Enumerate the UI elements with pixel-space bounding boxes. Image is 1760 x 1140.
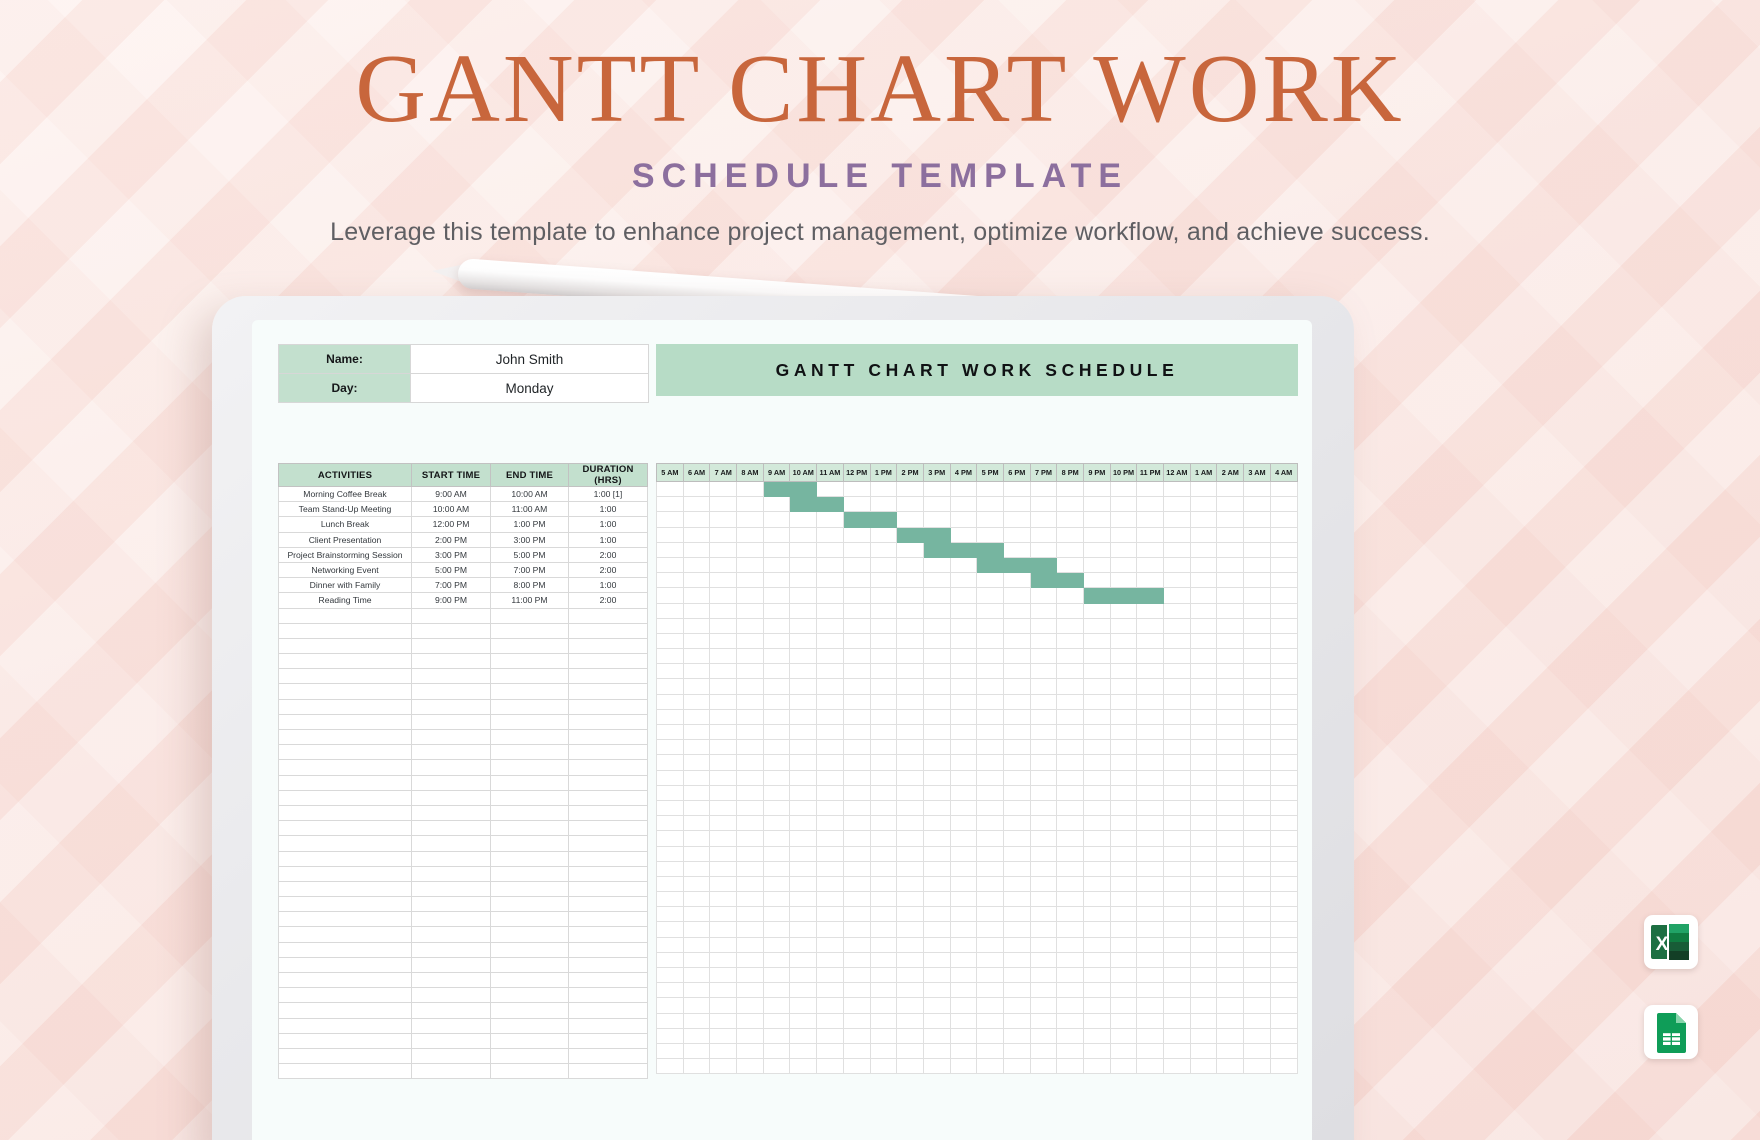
gantt-empty-cell[interactable]	[870, 709, 897, 724]
gantt-empty-cell[interactable]	[843, 694, 870, 709]
gantt-empty-cell[interactable]	[897, 968, 924, 983]
gantt-empty-cell[interactable]	[1164, 1043, 1191, 1058]
gantt-empty-cell[interactable]	[1244, 922, 1271, 937]
gantt-empty-cell[interactable]	[977, 1043, 1004, 1058]
gantt-bar-cell[interactable]	[843, 512, 870, 527]
cell-start-time-empty[interactable]	[412, 897, 491, 912]
gantt-empty-cell[interactable]	[1084, 694, 1111, 709]
cell-start-time-empty[interactable]	[412, 851, 491, 866]
gantt-empty-cell[interactable]	[1244, 740, 1271, 755]
gantt-empty-cell[interactable]	[1084, 952, 1111, 967]
gantt-empty-cell[interactable]	[1270, 497, 1297, 512]
gantt-empty-cell[interactable]	[1003, 497, 1030, 512]
gantt-empty-cell[interactable]	[1057, 482, 1084, 497]
gantt-empty-cell[interactable]	[1057, 1059, 1084, 1074]
gantt-empty-cell[interactable]	[923, 968, 950, 983]
gantt-empty-cell[interactable]	[870, 800, 897, 815]
cell-start-time-empty[interactable]	[412, 669, 491, 684]
gantt-empty-cell[interactable]	[843, 922, 870, 937]
gantt-empty-cell[interactable]	[1164, 770, 1191, 785]
cell-start-time-empty[interactable]	[412, 927, 491, 942]
gantt-empty-cell[interactable]	[1164, 816, 1191, 831]
gantt-empty-cell[interactable]	[763, 952, 790, 967]
gantt-empty-cell[interactable]	[923, 573, 950, 588]
gantt-empty-cell[interactable]	[1003, 770, 1030, 785]
cell-end-time-empty[interactable]	[491, 699, 569, 714]
cell-end-time-empty[interactable]	[491, 684, 569, 699]
gantt-empty-cell[interactable]	[977, 846, 1004, 861]
cell-activity-empty[interactable]	[279, 745, 412, 760]
gantt-empty-cell[interactable]	[657, 527, 684, 542]
gantt-empty-cell[interactable]	[710, 618, 737, 633]
gantt-empty-cell[interactable]	[1057, 952, 1084, 967]
gantt-empty-cell[interactable]	[1164, 983, 1191, 998]
gantt-empty-cell[interactable]	[1137, 527, 1164, 542]
gantt-empty-cell[interactable]	[1190, 1043, 1217, 1058]
gantt-empty-cell[interactable]	[843, 1043, 870, 1058]
gantt-empty-cell[interactable]	[1110, 800, 1137, 815]
gantt-empty-cell[interactable]	[1137, 861, 1164, 876]
gantt-empty-cell[interactable]	[1057, 618, 1084, 633]
cell-start-time-empty[interactable]	[412, 730, 491, 745]
gantt-empty-cell[interactable]	[737, 694, 764, 709]
gantt-empty-cell[interactable]	[1030, 542, 1057, 557]
gantt-bar-cell[interactable]	[790, 482, 817, 497]
gantt-empty-cell[interactable]	[1110, 725, 1137, 740]
cell-end-time-empty[interactable]	[491, 730, 569, 745]
gantt-empty-cell[interactable]	[1270, 800, 1297, 815]
excel-export-icon[interactable]: X	[1644, 915, 1698, 969]
gantt-empty-cell[interactable]	[737, 1059, 764, 1074]
cell-activity-empty[interactable]	[279, 684, 412, 699]
gantt-empty-cell[interactable]	[923, 800, 950, 815]
gantt-empty-cell[interactable]	[683, 542, 710, 557]
gantt-empty-cell[interactable]	[870, 1028, 897, 1043]
gantt-empty-cell[interactable]	[1003, 709, 1030, 724]
gantt-empty-cell[interactable]	[1057, 725, 1084, 740]
gantt-empty-cell[interactable]	[843, 861, 870, 876]
gantt-empty-cell[interactable]	[683, 694, 710, 709]
gantt-empty-cell[interactable]	[1137, 679, 1164, 694]
gantt-empty-cell[interactable]	[1190, 755, 1217, 770]
gantt-empty-cell[interactable]	[817, 800, 844, 815]
gantt-empty-cell[interactable]	[763, 785, 790, 800]
cell-duration-empty[interactable]	[569, 714, 648, 729]
gantt-empty-cell[interactable]	[817, 527, 844, 542]
gantt-empty-cell[interactable]	[843, 952, 870, 967]
gantt-empty-cell[interactable]	[843, 831, 870, 846]
cell-end-time-empty[interactable]	[491, 866, 569, 881]
gantt-empty-cell[interactable]	[897, 846, 924, 861]
gantt-empty-cell[interactable]	[657, 1059, 684, 1074]
gantt-empty-cell[interactable]	[897, 557, 924, 572]
gantt-empty-cell[interactable]	[1244, 1013, 1271, 1028]
gantt-empty-cell[interactable]	[1137, 968, 1164, 983]
gantt-empty-cell[interactable]	[1244, 497, 1271, 512]
gantt-empty-cell[interactable]	[1030, 907, 1057, 922]
cell-end-time[interactable]: 3:00 PM	[491, 532, 569, 547]
gantt-empty-cell[interactable]	[1030, 831, 1057, 846]
gantt-empty-cell[interactable]	[1084, 497, 1111, 512]
gantt-empty-cell[interactable]	[1270, 785, 1297, 800]
gantt-bar-cell[interactable]	[870, 512, 897, 527]
gantt-empty-cell[interactable]	[1217, 1013, 1244, 1028]
gantt-empty-cell[interactable]	[1110, 633, 1137, 648]
cell-start-time-empty[interactable]	[412, 821, 491, 836]
gantt-empty-cell[interactable]	[1057, 785, 1084, 800]
gantt-empty-cell[interactable]	[1217, 998, 1244, 1013]
gantt-empty-cell[interactable]	[1244, 892, 1271, 907]
gantt-empty-cell[interactable]	[790, 573, 817, 588]
gantt-empty-cell[interactable]	[1244, 694, 1271, 709]
gantt-empty-cell[interactable]	[1137, 892, 1164, 907]
gantt-empty-cell[interactable]	[1164, 725, 1191, 740]
gantt-empty-cell[interactable]	[1217, 603, 1244, 618]
gantt-empty-cell[interactable]	[950, 725, 977, 740]
gantt-empty-cell[interactable]	[1217, 573, 1244, 588]
gantt-empty-cell[interactable]	[657, 588, 684, 603]
gantt-empty-cell[interactable]	[763, 679, 790, 694]
cell-duration-empty[interactable]	[569, 957, 648, 972]
gantt-empty-cell[interactable]	[1030, 1043, 1057, 1058]
gantt-empty-cell[interactable]	[1084, 664, 1111, 679]
gantt-empty-cell[interactable]	[1190, 482, 1217, 497]
gantt-bar-cell[interactable]	[1030, 573, 1057, 588]
gantt-empty-cell[interactable]	[1110, 861, 1137, 876]
cell-duration-empty[interactable]	[569, 866, 648, 881]
cell-end-time-empty[interactable]	[491, 790, 569, 805]
gantt-empty-cell[interactable]	[1217, 861, 1244, 876]
gantt-empty-cell[interactable]	[897, 679, 924, 694]
gantt-empty-cell[interactable]	[1217, 740, 1244, 755]
gantt-empty-cell[interactable]	[950, 907, 977, 922]
cell-end-time-empty[interactable]	[491, 942, 569, 957]
gantt-empty-cell[interactable]	[790, 1059, 817, 1074]
gantt-empty-cell[interactable]	[1057, 816, 1084, 831]
gantt-empty-cell[interactable]	[843, 968, 870, 983]
cell-start-time-empty[interactable]	[412, 623, 491, 638]
gantt-empty-cell[interactable]	[1003, 800, 1030, 815]
gantt-empty-cell[interactable]	[737, 770, 764, 785]
cell-duration-empty[interactable]	[569, 821, 648, 836]
gantt-empty-cell[interactable]	[1030, 1059, 1057, 1074]
gantt-empty-cell[interactable]	[657, 1043, 684, 1058]
cell-end-time-empty[interactable]	[491, 1064, 569, 1079]
gantt-empty-cell[interactable]	[1270, 633, 1297, 648]
gantt-empty-cell[interactable]	[1030, 861, 1057, 876]
gantt-empty-cell[interactable]	[683, 816, 710, 831]
cell-start-time-empty[interactable]	[412, 1018, 491, 1033]
cell-activity-empty[interactable]	[279, 881, 412, 896]
cell-activity-empty[interactable]	[279, 988, 412, 1003]
gantt-empty-cell[interactable]	[843, 998, 870, 1013]
gantt-empty-cell[interactable]	[1057, 907, 1084, 922]
gantt-empty-cell[interactable]	[1110, 740, 1137, 755]
gantt-empty-cell[interactable]	[1190, 922, 1217, 937]
gantt-empty-cell[interactable]	[1110, 876, 1137, 891]
cell-activity-empty[interactable]	[279, 957, 412, 972]
gantt-empty-cell[interactable]	[1084, 482, 1111, 497]
cell-start-time[interactable]: 3:00 PM	[412, 547, 491, 562]
gantt-empty-cell[interactable]	[1003, 725, 1030, 740]
gantt-empty-cell[interactable]	[950, 588, 977, 603]
gantt-empty-cell[interactable]	[1003, 633, 1030, 648]
gantt-empty-cell[interactable]	[817, 983, 844, 998]
gantt-empty-cell[interactable]	[1084, 998, 1111, 1013]
gantt-empty-cell[interactable]	[683, 968, 710, 983]
cell-start-time-empty[interactable]	[412, 790, 491, 805]
cell-duration[interactable]: 1:00 [1]	[569, 487, 648, 502]
gantt-empty-cell[interactable]	[870, 1059, 897, 1074]
gantt-empty-cell[interactable]	[1137, 816, 1164, 831]
gantt-empty-cell[interactable]	[1057, 861, 1084, 876]
gantt-empty-cell[interactable]	[843, 649, 870, 664]
gantt-empty-cell[interactable]	[683, 588, 710, 603]
cell-end-time-empty[interactable]	[491, 1048, 569, 1063]
gantt-empty-cell[interactable]	[790, 603, 817, 618]
gantt-empty-cell[interactable]	[1244, 876, 1271, 891]
gantt-empty-cell[interactable]	[923, 694, 950, 709]
gantt-empty-cell[interactable]	[790, 846, 817, 861]
gantt-empty-cell[interactable]	[977, 922, 1004, 937]
gantt-empty-cell[interactable]	[1217, 770, 1244, 785]
gantt-empty-cell[interactable]	[1084, 785, 1111, 800]
gantt-empty-cell[interactable]	[1003, 649, 1030, 664]
gantt-empty-cell[interactable]	[1030, 1028, 1057, 1043]
gantt-empty-cell[interactable]	[843, 1059, 870, 1074]
gantt-empty-cell[interactable]	[1137, 876, 1164, 891]
gantt-empty-cell[interactable]	[923, 679, 950, 694]
gantt-empty-cell[interactable]	[1110, 573, 1137, 588]
cell-activity-empty[interactable]	[279, 775, 412, 790]
cell-end-time-empty[interactable]	[491, 623, 569, 638]
gantt-empty-cell[interactable]	[1003, 1043, 1030, 1058]
gantt-empty-cell[interactable]	[843, 633, 870, 648]
gantt-empty-cell[interactable]	[897, 1059, 924, 1074]
gantt-empty-cell[interactable]	[763, 557, 790, 572]
gantt-empty-cell[interactable]	[817, 649, 844, 664]
gantt-empty-cell[interactable]	[817, 937, 844, 952]
gantt-empty-cell[interactable]	[1057, 664, 1084, 679]
gantt-empty-cell[interactable]	[1244, 785, 1271, 800]
gantt-empty-cell[interactable]	[1030, 512, 1057, 527]
gantt-empty-cell[interactable]	[1217, 482, 1244, 497]
gantt-empty-cell[interactable]	[1003, 618, 1030, 633]
gantt-empty-cell[interactable]	[1030, 816, 1057, 831]
gantt-empty-cell[interactable]	[1137, 800, 1164, 815]
gantt-empty-cell[interactable]	[657, 755, 684, 770]
gantt-empty-cell[interactable]	[897, 1028, 924, 1043]
gantt-empty-cell[interactable]	[1164, 1013, 1191, 1028]
gantt-empty-cell[interactable]	[1003, 1028, 1030, 1043]
gantt-empty-cell[interactable]	[923, 512, 950, 527]
gantt-empty-cell[interactable]	[1270, 952, 1297, 967]
gantt-empty-cell[interactable]	[870, 649, 897, 664]
gantt-empty-cell[interactable]	[1270, 649, 1297, 664]
gantt-empty-cell[interactable]	[737, 679, 764, 694]
gantt-empty-cell[interactable]	[657, 907, 684, 922]
gantt-empty-cell[interactable]	[657, 740, 684, 755]
gantt-empty-cell[interactable]	[1190, 527, 1217, 542]
gantt-empty-cell[interactable]	[1003, 527, 1030, 542]
gantt-empty-cell[interactable]	[1003, 876, 1030, 891]
gantt-empty-cell[interactable]	[1110, 937, 1137, 952]
gantt-empty-cell[interactable]	[1057, 876, 1084, 891]
cell-activity-empty[interactable]	[279, 897, 412, 912]
gantt-empty-cell[interactable]	[1217, 816, 1244, 831]
gantt-empty-cell[interactable]	[977, 664, 1004, 679]
gantt-bar-cell[interactable]	[763, 482, 790, 497]
gantt-empty-cell[interactable]	[1190, 679, 1217, 694]
gantt-empty-cell[interactable]	[843, 482, 870, 497]
gantt-empty-cell[interactable]	[1217, 542, 1244, 557]
gantt-empty-cell[interactable]	[1030, 725, 1057, 740]
gantt-empty-cell[interactable]	[870, 755, 897, 770]
gantt-empty-cell[interactable]	[1190, 542, 1217, 557]
gantt-empty-cell[interactable]	[977, 952, 1004, 967]
gantt-empty-cell[interactable]	[977, 573, 1004, 588]
gantt-empty-cell[interactable]	[1030, 740, 1057, 755]
gantt-empty-cell[interactable]	[737, 573, 764, 588]
gantt-bar-cell[interactable]	[1057, 573, 1084, 588]
cell-duration-empty[interactable]	[569, 912, 648, 927]
gantt-empty-cell[interactable]	[657, 482, 684, 497]
gantt-empty-cell[interactable]	[763, 709, 790, 724]
cell-start-time[interactable]: 9:00 PM	[412, 593, 491, 608]
gantt-empty-cell[interactable]	[1110, 512, 1137, 527]
gantt-empty-cell[interactable]	[1217, 512, 1244, 527]
gantt-empty-cell[interactable]	[950, 1028, 977, 1043]
gantt-empty-cell[interactable]	[790, 785, 817, 800]
gantt-empty-cell[interactable]	[1190, 1013, 1217, 1028]
gantt-empty-cell[interactable]	[790, 770, 817, 785]
gantt-bar-cell[interactable]	[897, 527, 924, 542]
gantt-empty-cell[interactable]	[1270, 922, 1297, 937]
gantt-empty-cell[interactable]	[763, 998, 790, 1013]
cell-start-time-empty[interactable]	[412, 973, 491, 988]
gantt-empty-cell[interactable]	[683, 618, 710, 633]
gantt-empty-cell[interactable]	[843, 542, 870, 557]
cell-start-time-empty[interactable]	[412, 866, 491, 881]
cell-end-time-empty[interactable]	[491, 638, 569, 653]
cell-start-time-empty[interactable]	[412, 714, 491, 729]
gantt-empty-cell[interactable]	[657, 831, 684, 846]
gantt-empty-cell[interactable]	[1057, 740, 1084, 755]
gantt-bar-cell[interactable]	[1003, 557, 1030, 572]
gantt-empty-cell[interactable]	[790, 861, 817, 876]
gantt-empty-cell[interactable]	[1164, 800, 1191, 815]
cell-activity-empty[interactable]	[279, 730, 412, 745]
gantt-empty-cell[interactable]	[923, 892, 950, 907]
gantt-empty-cell[interactable]	[950, 998, 977, 1013]
gantt-empty-cell[interactable]	[1084, 618, 1111, 633]
gantt-empty-cell[interactable]	[1190, 892, 1217, 907]
gantt-empty-cell[interactable]	[950, 664, 977, 679]
gantt-empty-cell[interactable]	[1217, 922, 1244, 937]
gantt-empty-cell[interactable]	[1084, 740, 1111, 755]
gantt-empty-cell[interactable]	[817, 1028, 844, 1043]
gantt-empty-cell[interactable]	[763, 1059, 790, 1074]
gantt-empty-cell[interactable]	[1057, 968, 1084, 983]
gantt-empty-cell[interactable]	[870, 664, 897, 679]
gantt-empty-cell[interactable]	[1084, 846, 1111, 861]
gantt-empty-cell[interactable]	[950, 482, 977, 497]
info-value[interactable]: John Smith	[411, 345, 649, 374]
gantt-empty-cell[interactable]	[923, 907, 950, 922]
gantt-empty-cell[interactable]	[1030, 922, 1057, 937]
cell-duration-empty[interactable]	[569, 927, 648, 942]
gantt-empty-cell[interactable]	[710, 998, 737, 1013]
gantt-empty-cell[interactable]	[923, 998, 950, 1013]
gantt-empty-cell[interactable]	[790, 527, 817, 542]
gantt-empty-cell[interactable]	[1110, 785, 1137, 800]
gantt-empty-cell[interactable]	[710, 892, 737, 907]
gantt-empty-cell[interactable]	[1190, 846, 1217, 861]
gantt-empty-cell[interactable]	[1110, 816, 1137, 831]
gantt-empty-cell[interactable]	[1190, 633, 1217, 648]
gantt-empty-cell[interactable]	[790, 755, 817, 770]
gantt-empty-cell[interactable]	[843, 618, 870, 633]
gantt-empty-cell[interactable]	[817, 482, 844, 497]
gantt-empty-cell[interactable]	[737, 968, 764, 983]
gantt-empty-cell[interactable]	[817, 573, 844, 588]
gantt-bar-cell[interactable]	[1030, 557, 1057, 572]
gantt-empty-cell[interactable]	[870, 770, 897, 785]
gantt-empty-cell[interactable]	[710, 497, 737, 512]
cell-start-time-empty[interactable]	[412, 1003, 491, 1018]
gantt-empty-cell[interactable]	[1084, 907, 1111, 922]
gantt-bar-cell[interactable]	[977, 542, 1004, 557]
cell-activity[interactable]: Reading Time	[279, 593, 412, 608]
gantt-empty-cell[interactable]	[683, 892, 710, 907]
gantt-empty-cell[interactable]	[923, 1028, 950, 1043]
gantt-empty-cell[interactable]	[763, 770, 790, 785]
gantt-empty-cell[interactable]	[1057, 588, 1084, 603]
gantt-empty-cell[interactable]	[1164, 482, 1191, 497]
gantt-empty-cell[interactable]	[1137, 725, 1164, 740]
gantt-empty-cell[interactable]	[790, 937, 817, 952]
gantt-empty-cell[interactable]	[897, 770, 924, 785]
gantt-empty-cell[interactable]	[1217, 846, 1244, 861]
cell-end-time-empty[interactable]	[491, 775, 569, 790]
gantt-empty-cell[interactable]	[1270, 983, 1297, 998]
gantt-empty-cell[interactable]	[870, 527, 897, 542]
gantt-empty-cell[interactable]	[1030, 952, 1057, 967]
gantt-empty-cell[interactable]	[1217, 755, 1244, 770]
gantt-empty-cell[interactable]	[977, 983, 1004, 998]
gantt-empty-cell[interactable]	[843, 983, 870, 998]
gantt-empty-cell[interactable]	[763, 740, 790, 755]
gantt-empty-cell[interactable]	[923, 983, 950, 998]
gantt-empty-cell[interactable]	[923, 725, 950, 740]
gantt-empty-cell[interactable]	[977, 755, 1004, 770]
gantt-empty-cell[interactable]	[1217, 527, 1244, 542]
gantt-empty-cell[interactable]	[710, 649, 737, 664]
gantt-empty-cell[interactable]	[1190, 861, 1217, 876]
gantt-empty-cell[interactable]	[1217, 694, 1244, 709]
gantt-empty-cell[interactable]	[1137, 542, 1164, 557]
gantt-empty-cell[interactable]	[1164, 1059, 1191, 1074]
gantt-empty-cell[interactable]	[870, 725, 897, 740]
gantt-empty-cell[interactable]	[657, 785, 684, 800]
cell-duration-empty[interactable]	[569, 1064, 648, 1079]
gantt-empty-cell[interactable]	[737, 482, 764, 497]
gantt-empty-cell[interactable]	[1244, 679, 1271, 694]
gantt-empty-cell[interactable]	[1003, 755, 1030, 770]
gantt-empty-cell[interactable]	[870, 740, 897, 755]
gantt-empty-cell[interactable]	[843, 816, 870, 831]
gantt-empty-cell[interactable]	[790, 998, 817, 1013]
